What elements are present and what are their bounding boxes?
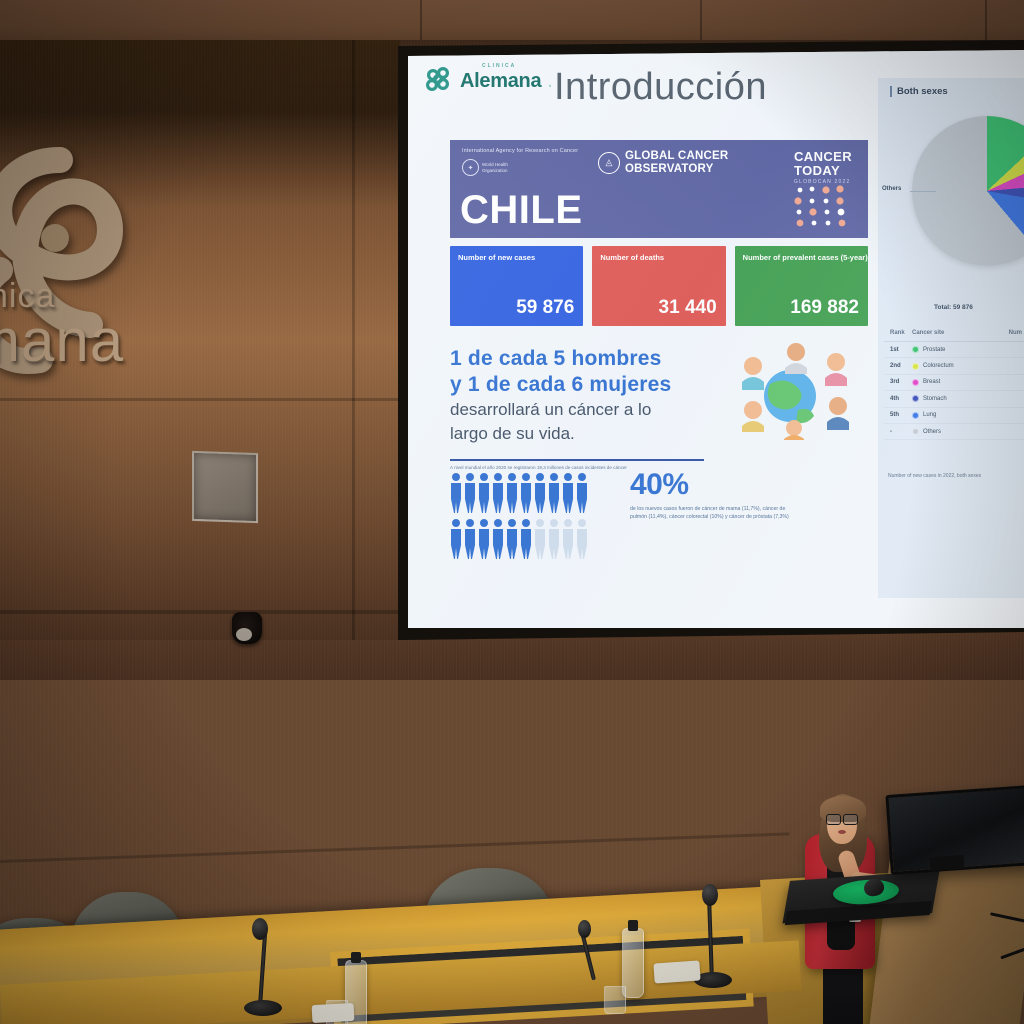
- gco-block: ◬ GLOBAL CANCER OBSERVATORY: [598, 150, 728, 176]
- color-swatch: [912, 379, 919, 386]
- microphone-head-icon: [252, 918, 268, 940]
- gco-line2: OBSERVATORY: [625, 163, 728, 176]
- statement-line3: desarrollará un cáncer a lo: [450, 399, 710, 421]
- table-row: - Others: [884, 424, 1024, 440]
- stat-card-value: 59 876: [516, 297, 574, 319]
- row-site: Lung: [912, 412, 994, 419]
- slide-main-column: CLINICA Alemana . Introducción Internati…: [408, 50, 878, 628]
- gco-logo-icon: ◬: [598, 152, 620, 174]
- table-row: 2nd Colorectum: [884, 358, 1024, 374]
- clover-logo-icon: [424, 66, 454, 96]
- color-swatch: [912, 428, 919, 435]
- conference-room-photo: línica mana: [0, 0, 1024, 1024]
- who-lines: World Health Organization: [482, 162, 508, 173]
- row-rank: 1st: [890, 347, 912, 353]
- row-site-label: Others: [923, 429, 941, 435]
- row-site: Prostate: [912, 346, 994, 353]
- venue-sign-line2: mana: [0, 312, 230, 369]
- header-site: Cancer site: [912, 330, 994, 336]
- slide-brand: CLINICA Alemana .: [424, 66, 553, 96]
- microphone-base: [244, 1000, 282, 1016]
- statement-line4: largo de su vida.: [450, 423, 710, 445]
- decorative-dots-icon: [792, 184, 854, 228]
- percent-block: 40% de los nuevos casos fueron de cáncer…: [450, 468, 868, 588]
- row-site-label: Prostate: [923, 347, 945, 353]
- color-swatch: [912, 363, 919, 370]
- presenter-legs: [823, 960, 863, 1024]
- brand-label: Alemana: [460, 70, 541, 92]
- glasses-icon: [826, 814, 858, 824]
- cancer-today-block: CANCER TODAY GLOBOCAN 2022: [794, 150, 852, 186]
- row-rank: 5th: [890, 412, 912, 418]
- iarc-block: International Agency for Research on Can…: [462, 148, 578, 176]
- brand-dot: .: [547, 70, 553, 93]
- stat-card-label: Number of prevalent cases (5-year): [743, 253, 868, 263]
- globocan-banner: International Agency for Research on Can…: [450, 140, 868, 238]
- pie-total-label: Total: 59 876: [934, 304, 973, 311]
- row-site-label: Stomach: [923, 396, 947, 402]
- screen-surface: CLINICA Alemana . Introducción Internati…: [408, 50, 1024, 628]
- microphone-head-icon: [702, 884, 718, 906]
- monitor-stand: [930, 855, 965, 871]
- cancer-today-line2: TODAY: [794, 164, 852, 178]
- table-footer: Number of new cases in 2022, both sexes: [888, 473, 1024, 479]
- percent-value: 40%: [630, 468, 790, 502]
- row-site: Colorectum: [912, 363, 994, 370]
- color-swatch: [912, 412, 919, 419]
- who-line1: World Health: [482, 162, 508, 168]
- napkin: [653, 960, 700, 983]
- gco-line1: GLOBAL CANCER: [625, 150, 728, 163]
- statement-line1: 1 de cada 5 hombres: [450, 346, 710, 372]
- row-rank: 3rd: [890, 379, 912, 385]
- header-rank: Rank: [890, 330, 912, 336]
- side-panel-header: Both sexes: [890, 86, 948, 97]
- table-row: 3rd Breast: [884, 375, 1024, 391]
- stat-card: Number of prevalent cases (5-year) 169 8…: [735, 246, 868, 326]
- drinking-glass: [604, 986, 626, 1014]
- table-row: 1st Prostate: [884, 342, 1024, 358]
- who-line2: Organization: [482, 168, 508, 174]
- percent-value-block: 40% de los nuevos casos fueron de cáncer…: [630, 468, 790, 522]
- stat-card-label: Number of new cases: [458, 253, 535, 263]
- pie-others-label: Others: [882, 186, 901, 192]
- row-site-label: Colorectum: [923, 363, 954, 369]
- slide: CLINICA Alemana . Introducción Internati…: [408, 50, 1024, 628]
- table-header-row: Rank Cancer site Num: [884, 326, 1024, 342]
- presenter-mouth: [838, 830, 846, 834]
- rank-table: Rank Cancer site Num 1st Prostate 2nd Co…: [884, 326, 1024, 440]
- brand-kicker: CLINICA: [482, 63, 516, 69]
- row-site-label: Lung: [923, 412, 936, 418]
- stat-card-value: 169 882: [790, 297, 859, 319]
- row-rank: 4th: [890, 396, 912, 402]
- statement-block: 1 de cada 5 hombres y 1 de cada 6 mujere…: [450, 346, 710, 471]
- people-pictogram-icon: [450, 472, 610, 569]
- napkin: [312, 1003, 355, 1023]
- wall-seam: [352, 40, 355, 640]
- stat-card: Number of deaths 31 440: [592, 246, 725, 326]
- projection-screen: CLINICA Alemana . Introducción Internati…: [398, 40, 1024, 640]
- color-swatch: [912, 395, 919, 402]
- microphone-head-icon: [578, 920, 591, 938]
- gco-lines: GLOBAL CANCER OBSERVATORY: [625, 150, 728, 176]
- row-site: Others: [912, 428, 994, 435]
- header-num: Num: [994, 330, 1022, 336]
- stat-card: Number of new cases 59 876: [450, 246, 583, 326]
- row-rank: -: [890, 429, 912, 435]
- who-emblem-icon: ✦: [462, 159, 479, 176]
- venue-logo-icon: [0, 120, 240, 420]
- row-site: Breast: [912, 379, 994, 386]
- side-panel: Both sexes Others Total: 59 876 Rank Can…: [878, 78, 1024, 598]
- slide-title: Introducción: [554, 66, 767, 109]
- brand-name: CLINICA Alemana: [460, 70, 541, 93]
- row-site-label: Breast: [923, 379, 940, 385]
- table-row: 5th Lung: [884, 408, 1024, 424]
- color-swatch: [912, 346, 919, 353]
- who-block: ✦ World Health Organization: [462, 159, 578, 176]
- cancer-today-line1: CANCER: [794, 150, 852, 164]
- iarc-label: International Agency for Research on Can…: [462, 148, 578, 154]
- venue-sign-text: línica mana: [0, 280, 230, 369]
- people-globe-illustration: [718, 340, 868, 440]
- security-camera-icon: [232, 612, 262, 644]
- stat-cards: Number of new cases 59 876 Number of dea…: [450, 246, 868, 326]
- row-rank: 2nd: [890, 363, 912, 369]
- row-site: Stomach: [912, 395, 994, 402]
- percent-description: de los nuevos casos fueron de cáncer de …: [630, 506, 790, 522]
- country-label: CHILE: [460, 188, 583, 233]
- divider: [450, 459, 704, 461]
- stat-card-label: Number of deaths: [600, 253, 664, 263]
- wall-access-panel: [192, 451, 258, 523]
- pie-leader-line: [910, 191, 936, 192]
- table-row: 4th Stomach: [884, 391, 1024, 407]
- statement-line2: y 1 de cada 6 mujeres: [450, 372, 710, 398]
- stat-card-value: 31 440: [659, 297, 717, 319]
